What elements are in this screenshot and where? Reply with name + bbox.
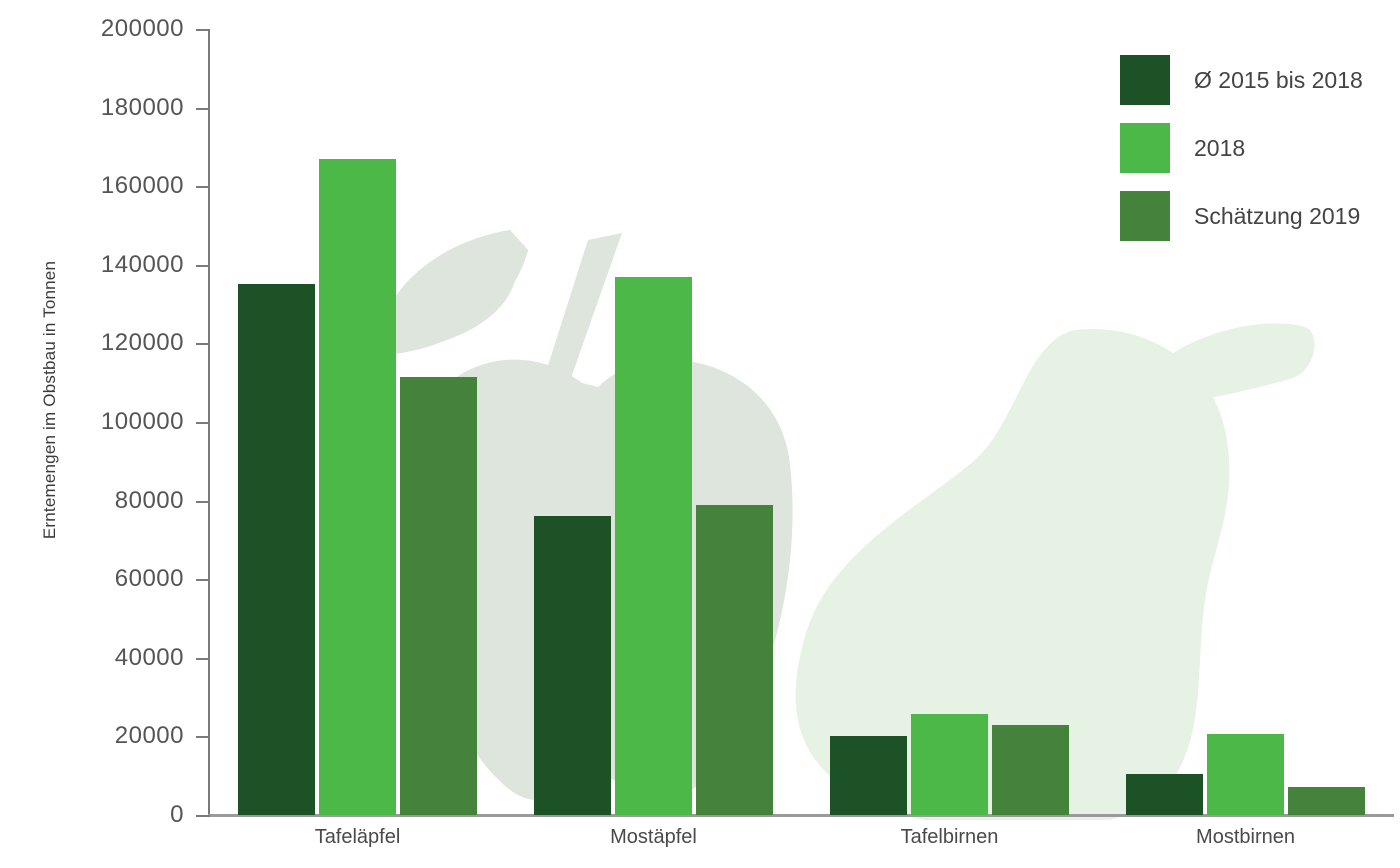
bar[interactable]	[1126, 774, 1203, 815]
bar[interactable]	[400, 377, 477, 815]
legend-item-label: Ø 2015 bis 2018	[1194, 67, 1363, 94]
bar[interactable]	[696, 505, 773, 815]
y-axis-tick	[196, 501, 210, 503]
bar[interactable]	[1207, 734, 1284, 815]
x-axis-label: Tafeläpfel	[315, 826, 401, 849]
bar[interactable]	[534, 516, 611, 815]
bar[interactable]	[1288, 787, 1365, 815]
y-axis-tick	[196, 29, 210, 31]
legend-item-label: Schätzung 2019	[1194, 203, 1360, 230]
y-axis-tick-label: 140000	[101, 251, 184, 279]
bar-group	[534, 29, 773, 815]
legend-swatch-icon	[1120, 55, 1170, 105]
bar[interactable]	[830, 736, 907, 815]
bar[interactable]	[238, 284, 315, 815]
y-axis-tick-label: 20000	[115, 722, 184, 750]
y-axis-tick-label: 60000	[115, 565, 184, 593]
y-axis-tick-label: 40000	[115, 644, 184, 672]
y-axis-tick-label: 80000	[115, 487, 184, 515]
legend-item[interactable]: 2018	[1120, 120, 1390, 176]
y-axis-tick	[196, 815, 210, 817]
y-axis-tick	[196, 658, 210, 660]
y-axis-tick-label: 160000	[101, 172, 184, 200]
x-axis-label: Mostbirnen	[1196, 826, 1295, 849]
bar-group	[238, 29, 477, 815]
y-axis-tick	[196, 186, 210, 188]
y-axis-tick	[196, 265, 210, 267]
y-axis-title: Erntemengen im Obstbau in Tonnen	[40, 190, 60, 610]
legend-item[interactable]: Ø 2015 bis 2018	[1120, 52, 1390, 108]
y-axis-tick	[196, 108, 210, 110]
legend-swatch-icon	[1120, 191, 1170, 241]
bar[interactable]	[992, 725, 1069, 815]
x-axis-label: Mostäpfel	[610, 826, 697, 849]
y-axis-tick-label: 100000	[101, 408, 184, 436]
bar-chart: Erntemengen im Obstbau in Tonnen 0200004…	[0, 0, 1400, 868]
y-axis-tick-label: 180000	[101, 94, 184, 122]
y-axis-tick-label: 200000	[101, 15, 184, 43]
y-axis-tick	[196, 343, 210, 345]
y-axis-tick	[196, 736, 210, 738]
bar[interactable]	[615, 277, 692, 815]
y-axis-tick-label: 0	[170, 801, 184, 829]
legend-item[interactable]: Schätzung 2019	[1120, 188, 1390, 244]
bar[interactable]	[319, 159, 396, 815]
y-axis-tick-label: 120000	[101, 329, 184, 357]
y-axis-tick	[196, 579, 210, 581]
x-axis-label: Tafelbirnen	[901, 826, 999, 849]
chart-legend: Ø 2015 bis 20182018Schätzung 2019	[1120, 52, 1390, 256]
legend-item-label: 2018	[1194, 135, 1245, 162]
bar-group	[830, 29, 1069, 815]
y-axis-tick	[196, 422, 210, 424]
bar[interactable]	[911, 714, 988, 815]
legend-swatch-icon	[1120, 123, 1170, 173]
